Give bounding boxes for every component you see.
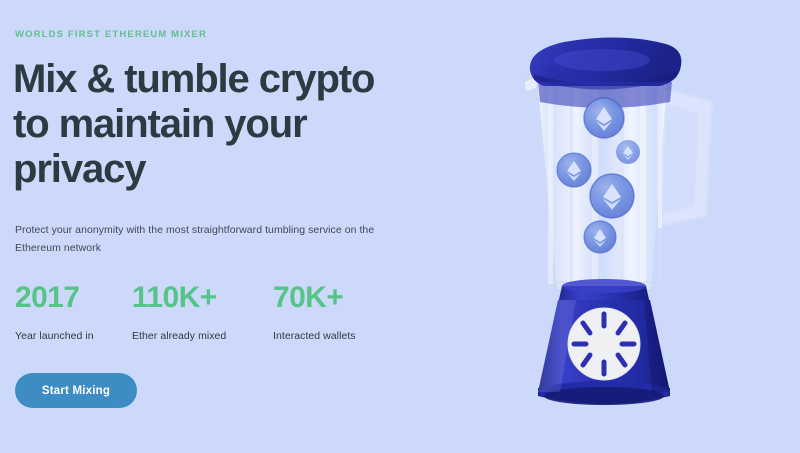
ethereum-coin	[557, 153, 591, 187]
stat-label: Year launched in	[15, 330, 132, 342]
ethereum-coin	[584, 221, 616, 253]
start-mixing-button[interactable]: Start Mixing	[15, 373, 137, 408]
hero-subtitle: Protect your anonymity with the most str…	[15, 221, 385, 258]
page-title: Mix & tumble crypto to maintain your pri…	[13, 57, 413, 191]
speed-dial-icon	[568, 308, 640, 380]
ethereum-coin	[584, 98, 624, 138]
hero-content: Worlds first Ethereum mixer Mix & tumble…	[15, 0, 435, 453]
blender-lid	[530, 37, 681, 89]
stat-label: Ether already mixed	[132, 330, 273, 342]
blender-illustration	[500, 30, 760, 425]
stats-row: 2017 Year launched in 110K+ Ether alread…	[15, 283, 415, 342]
stat-label: Interacted wallets	[273, 330, 393, 342]
ethereum-coin	[616, 140, 640, 164]
stat-item-interacted-wallets: 70K+ Interacted wallets	[273, 283, 393, 342]
hero-eyebrow: Worlds first Ethereum mixer	[15, 29, 207, 40]
hero-section: Worlds first Ethereum mixer Mix & tumble…	[0, 0, 800, 453]
ethereum-coin	[590, 174, 634, 218]
stat-value: 2017	[15, 283, 132, 313]
stat-value: 110K+	[132, 283, 273, 313]
stat-item-year-launched: 2017 Year launched in	[15, 283, 132, 342]
stat-value: 70K+	[273, 283, 393, 313]
blender-base	[538, 279, 670, 405]
stat-item-ether-mixed: 110K+ Ether already mixed	[132, 283, 273, 342]
blender-handle	[658, 86, 712, 228]
